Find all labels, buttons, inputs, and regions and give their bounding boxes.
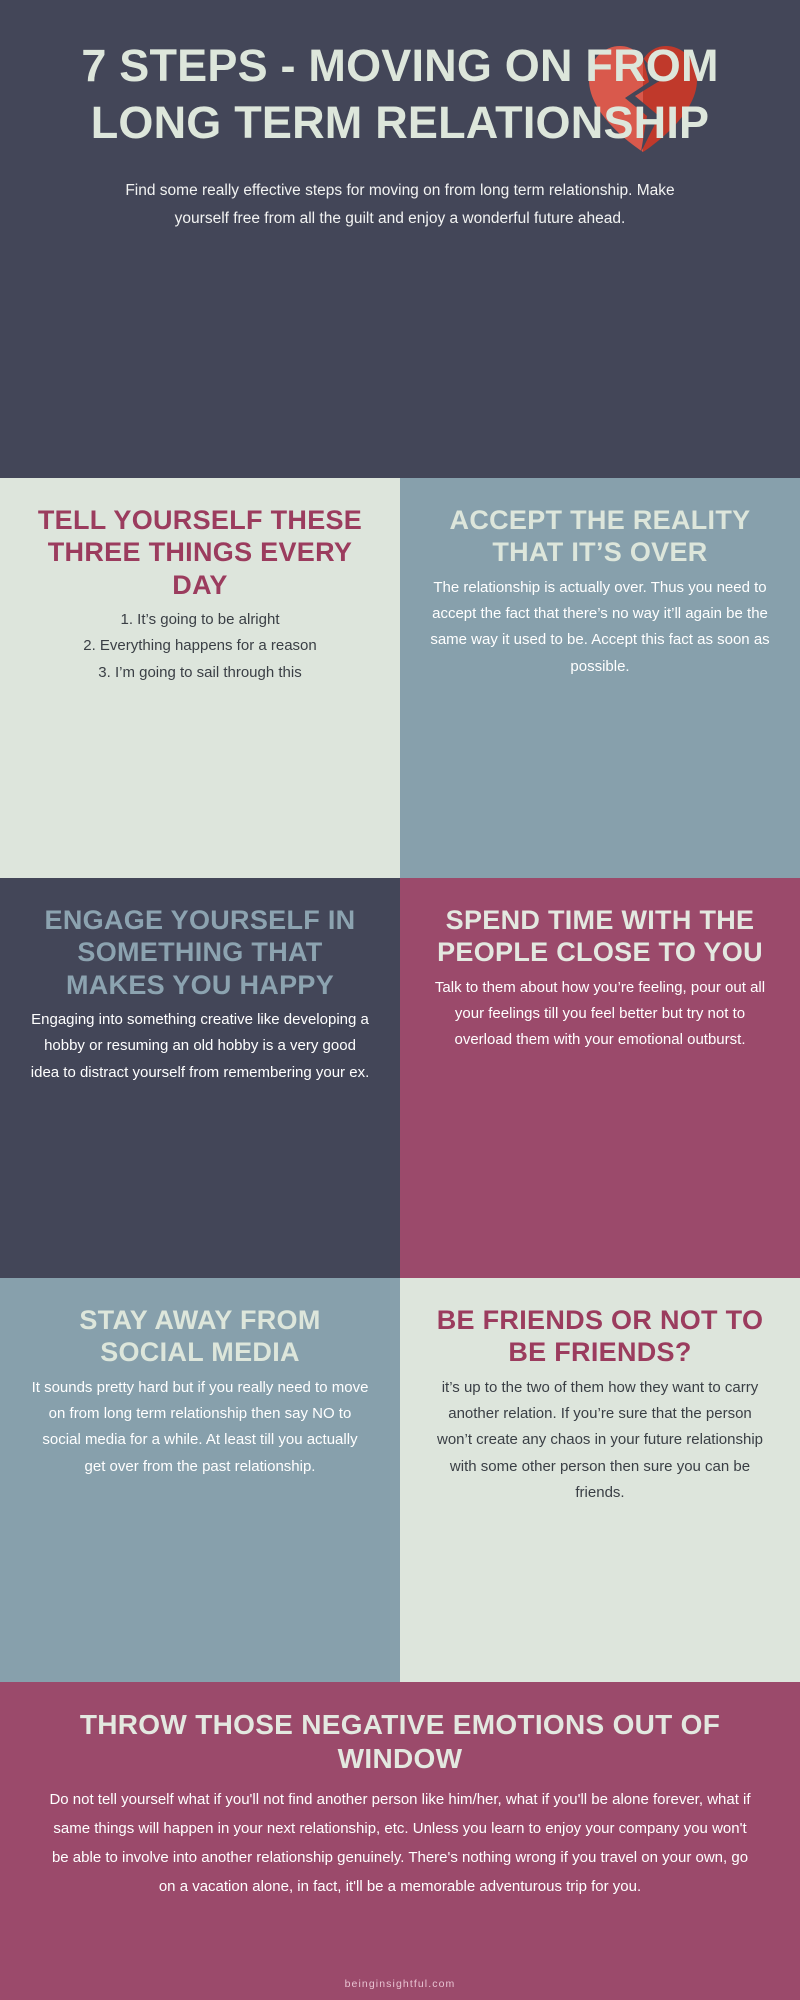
- step-list: 1. It’s going to be alright 2. Everythin…: [30, 607, 370, 686]
- header-section: 7 STEPS - MOVING ON FROM LONG TERM RELAT…: [0, 0, 800, 478]
- step-heading: BE FRIENDS OR NOT TO BE FRIENDS?: [430, 1304, 770, 1369]
- step-row-3: STAY AWAY FROM SOCIAL MEDIA It sounds pr…: [0, 1278, 800, 1682]
- list-item: 1. It’s going to be alright: [30, 607, 370, 633]
- list-item: 2. Everything happens for a reason: [30, 633, 370, 659]
- step-heading: ENGAGE YOURSELF IN SOMETHING THAT MAKES …: [30, 904, 370, 1001]
- step-card-2[interactable]: ACCEPT THE REALITY THAT IT’S OVER The re…: [400, 478, 800, 878]
- step-heading: ACCEPT THE REALITY THAT IT’S OVER: [430, 504, 770, 569]
- step-body: Engaging into something creative like de…: [30, 1007, 370, 1086]
- infographic-page: 7 STEPS - MOVING ON FROM LONG TERM RELAT…: [0, 0, 800, 2000]
- step-heading: THROW THOSE NEGATIVE EMOTIONS OUT OF WIN…: [48, 1708, 752, 1776]
- step-body: it’s up to the two of them how they want…: [430, 1375, 770, 1506]
- step-body: It sounds pretty hard but if you really …: [30, 1375, 370, 1480]
- step-card-6[interactable]: BE FRIENDS OR NOT TO BE FRIENDS? it’s up…: [400, 1278, 800, 1682]
- step-body: Talk to them about how you’re feeling, p…: [430, 975, 770, 1054]
- list-item: 3. I’m going to sail through this: [30, 660, 370, 686]
- step-card-7[interactable]: THROW THOSE NEGATIVE EMOTIONS OUT OF WIN…: [0, 1682, 800, 2000]
- step-row-1: TELL YOURSELF THESE THREE THINGS EVERY D…: [0, 478, 800, 878]
- step-card-4[interactable]: SPEND TIME WITH THE PEOPLE CLOSE TO YOU …: [400, 878, 800, 1278]
- step-card-1[interactable]: TELL YOURSELF THESE THREE THINGS EVERY D…: [0, 478, 400, 878]
- page-subtitle: Find some really effective steps for mov…: [100, 177, 700, 231]
- site-credit[interactable]: beinginsightful.com: [0, 1978, 800, 1990]
- step-row-2: ENGAGE YOURSELF IN SOMETHING THAT MAKES …: [0, 878, 800, 1278]
- step-heading: TELL YOURSELF THESE THREE THINGS EVERY D…: [30, 504, 370, 601]
- step-heading: STAY AWAY FROM SOCIAL MEDIA: [30, 1304, 370, 1369]
- step-body: Do not tell yourself what if you'll not …: [48, 1786, 752, 1901]
- step-card-5[interactable]: STAY AWAY FROM SOCIAL MEDIA It sounds pr…: [0, 1278, 400, 1682]
- step-body: The relationship is actually over. Thus …: [430, 575, 770, 680]
- step-card-3[interactable]: ENGAGE YOURSELF IN SOMETHING THAT MAKES …: [0, 878, 400, 1278]
- page-title: 7 STEPS - MOVING ON FROM LONG TERM RELAT…: [70, 38, 730, 151]
- step-heading: SPEND TIME WITH THE PEOPLE CLOSE TO YOU: [430, 904, 770, 969]
